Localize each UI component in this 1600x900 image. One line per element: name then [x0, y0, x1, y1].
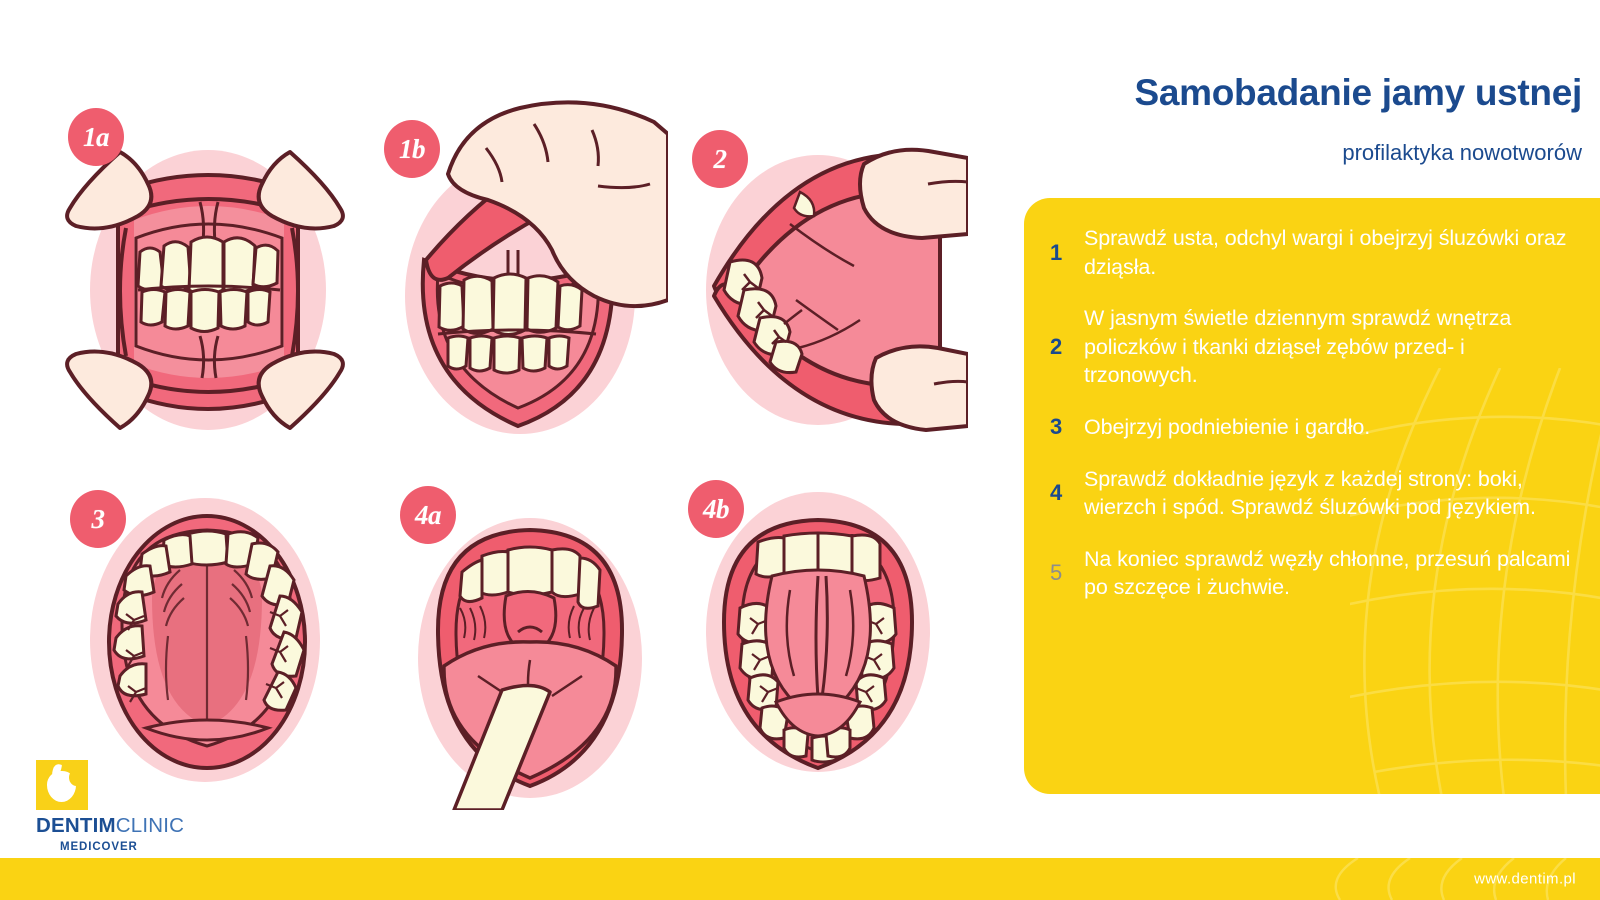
steps-list: 1 Sprawdź usta, odchyl wargi i obejrzyj …	[1024, 198, 1600, 602]
illustration-2: 2	[678, 120, 968, 440]
step-item-1: 1 Sprawdź usta, odchyl wargi i obejrzyj …	[1050, 224, 1580, 281]
step-text-4: Sprawdź dokładnie język z każdej strony:…	[1084, 465, 1580, 522]
illustration-grid: 1a	[0, 0, 1010, 830]
illustration-3: 3	[60, 490, 350, 790]
content-panel: Samobadanie jamy ustnej profilaktyka now…	[1010, 0, 1600, 900]
footer-bar: www.dentim.pl	[0, 858, 1600, 900]
illustration-4b: 4b	[672, 480, 962, 780]
step-item-5: 5 Na koniec sprawdź węzły chłonne, przes…	[1050, 545, 1580, 602]
step-text-1: Sprawdź usta, odchyl wargi i obejrzyj śl…	[1084, 224, 1580, 281]
logo-wordmark: DENTIMCLINIC	[36, 816, 246, 837]
illustration-badge-4b: 4b	[688, 480, 744, 538]
steps-panel: 1 Sprawdź usta, odchyl wargi i obejrzyj …	[1024, 198, 1600, 794]
step-number-2: 2	[1050, 336, 1084, 358]
page-subtitle: profilaktyka nowotworów	[1342, 140, 1582, 166]
logo-parent-brand: MEDICOVER	[60, 841, 246, 853]
illustration-badge-1a: 1a	[68, 108, 124, 166]
step-number-3: 3	[1050, 416, 1084, 438]
illustration-4a: 4a	[382, 490, 672, 810]
illustration-badge-3: 3	[70, 490, 126, 548]
step-number-5: 5	[1050, 562, 1084, 584]
logo-brand-bold: DENTIM	[36, 814, 116, 837]
step-text-3: Obejrzyj podniebienie i gardło.	[1084, 413, 1580, 442]
logo-apple-icon	[36, 760, 88, 810]
footer-website-url[interactable]: www.dentim.pl	[1474, 871, 1576, 888]
step-item-3: 3 Obejrzyj podniebienie i gardło.	[1050, 413, 1580, 442]
illustration-badge-1b: 1b	[384, 120, 440, 178]
step-number-1: 1	[1050, 242, 1084, 264]
illustration-1a: 1a	[60, 140, 350, 440]
step-number-4: 4	[1050, 482, 1084, 504]
illustration-1b: 1b	[368, 100, 668, 440]
logo[interactable]: DENTIMCLINIC MEDICOVER	[36, 760, 246, 853]
step-text-5: Na koniec sprawdź węzły chłonne, przesuń…	[1084, 545, 1580, 602]
illustration-badge-2: 2	[692, 130, 748, 188]
page-title: Samobadanie jamy ustnej	[1134, 72, 1582, 114]
step-text-2: W jasnym świetle dziennym sprawdź wnętrz…	[1084, 304, 1580, 390]
logo-brand-light: CLINIC	[116, 814, 184, 837]
illustration-1a-graphic	[60, 140, 350, 440]
illustration-badge-4a: 4a	[400, 486, 456, 544]
step-item-2: 2 W jasnym świetle dziennym sprawdź wnęt…	[1050, 304, 1580, 390]
step-item-4: 4 Sprawdź dokładnie język z każdej stron…	[1050, 465, 1580, 522]
